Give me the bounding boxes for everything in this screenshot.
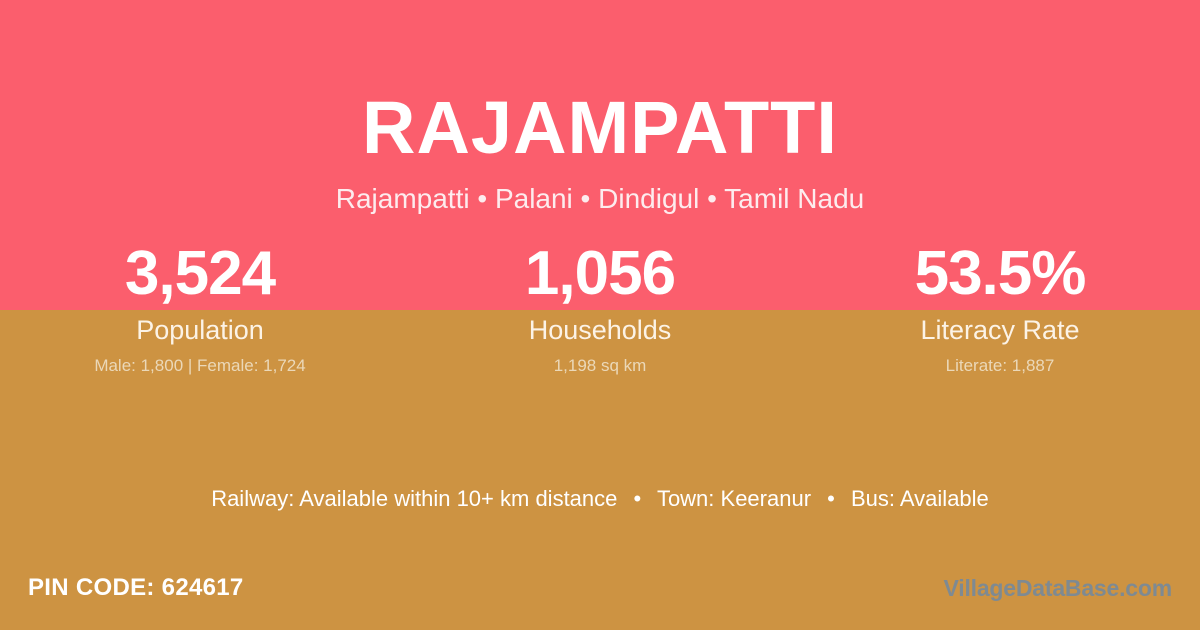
amenity-railway: Railway: Available within 10+ km distanc… bbox=[211, 486, 617, 511]
amenity-town: Town: Keeranur bbox=[657, 486, 811, 511]
village-info-card: RAJAMPATTI Rajampatti • Palani • Dindigu… bbox=[0, 0, 1200, 630]
site-watermark: VillageDataBase.com bbox=[944, 574, 1172, 602]
amenity-separator: • bbox=[624, 486, 652, 511]
stat-households: 1,056 Households 1,198 sq km bbox=[400, 238, 800, 377]
amenity-separator: • bbox=[817, 486, 845, 511]
stat-sub-population: Male: 1,800 | Female: 1,724 bbox=[0, 355, 400, 377]
pin-code: PIN CODE: 624617 bbox=[28, 573, 244, 603]
page-title: RAJAMPATTI bbox=[0, 0, 1200, 170]
stat-literacy-rate: 53.5% Literacy Rate Literate: 1,887 bbox=[800, 238, 1200, 377]
stat-sub-literacy-rate: Literate: 1,887 bbox=[800, 355, 1200, 377]
stat-value-literacy-rate: 53.5% bbox=[800, 238, 1200, 310]
amenity-bus: Bus: Available bbox=[851, 486, 989, 511]
stat-label-population: Population bbox=[0, 314, 400, 346]
stat-label-literacy-rate: Literacy Rate bbox=[800, 314, 1200, 346]
stat-value-population: 3,524 bbox=[0, 238, 400, 310]
stats-row: 3,524 Population Male: 1,800 | Female: 1… bbox=[0, 238, 1200, 377]
breadcrumb: Rajampatti • Palani • Dindigul • Tamil N… bbox=[0, 170, 1200, 216]
stat-value-households: 1,056 bbox=[400, 238, 800, 310]
amenities-row: Railway: Available within 10+ km distanc… bbox=[0, 484, 1200, 514]
stat-sub-households: 1,198 sq km bbox=[400, 355, 800, 377]
stat-label-households: Households bbox=[400, 314, 800, 346]
title-block: RAJAMPATTI Rajampatti • Palani • Dindigu… bbox=[0, 0, 1200, 216]
stat-population: 3,524 Population Male: 1,800 | Female: 1… bbox=[0, 238, 400, 377]
